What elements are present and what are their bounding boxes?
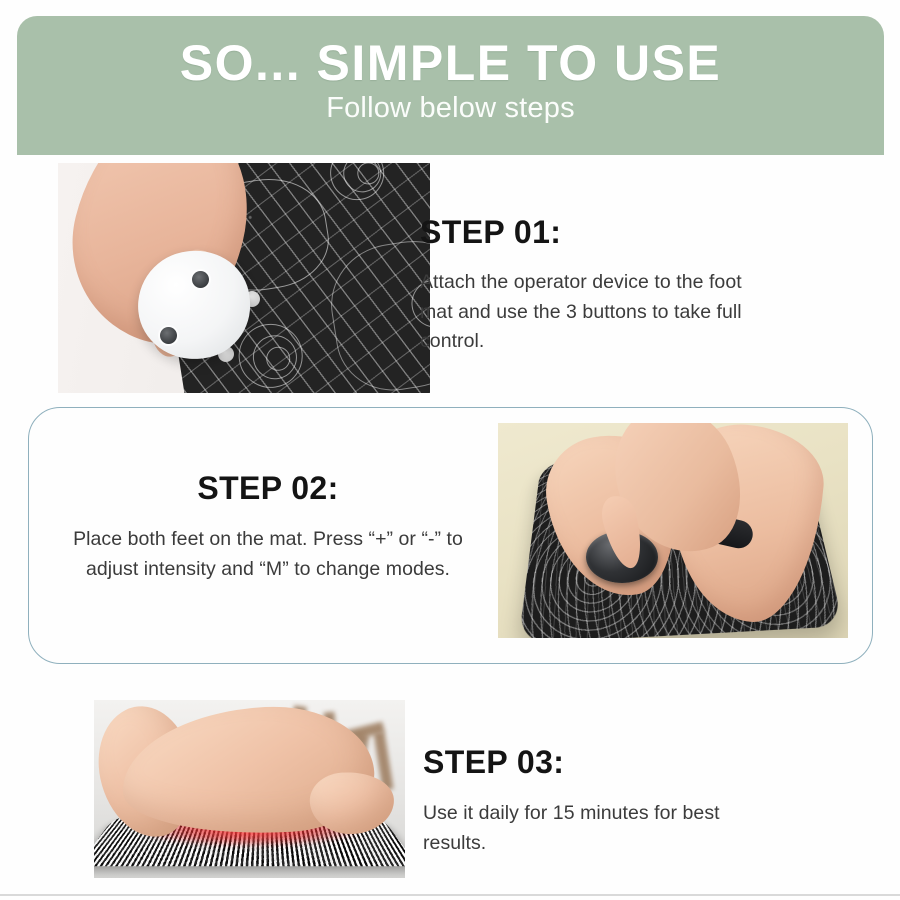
- step-02-body: Place both feet on the mat. Press “+” or…: [68, 525, 468, 584]
- bottom-divider: [0, 894, 900, 896]
- step-01-image: MASSAGER: [58, 163, 430, 393]
- device-stud: [160, 327, 177, 344]
- infographic-page: SO... SIMPLE TO USE Follow below steps M…: [0, 0, 900, 900]
- step-01-heading: STEP 01:: [420, 214, 820, 251]
- step-02-text-block: STEP 02: Place both feet on the mat. Pre…: [68, 470, 468, 584]
- step-01-text-block: STEP 01: Attach the operator device to t…: [420, 214, 820, 357]
- page-subtitle: Follow below steps: [326, 92, 575, 125]
- step-03-text-block: STEP 03: Use it daily for 15 minutes for…: [423, 744, 823, 858]
- step-03-image: [94, 700, 405, 878]
- page-title: SO... SIMPLE TO USE: [180, 36, 722, 90]
- step-03-heading: STEP 03:: [423, 744, 823, 781]
- step-01-body: Attach the operator device to the foot m…: [420, 268, 776, 357]
- step-02-image: [498, 423, 848, 638]
- step-03-body: Use it daily for 15 minutes for best res…: [423, 799, 753, 858]
- step-02-heading: STEP 02:: [68, 470, 468, 507]
- header-banner: SO... SIMPLE TO USE Follow below steps: [17, 16, 884, 155]
- device-stud: [192, 271, 209, 288]
